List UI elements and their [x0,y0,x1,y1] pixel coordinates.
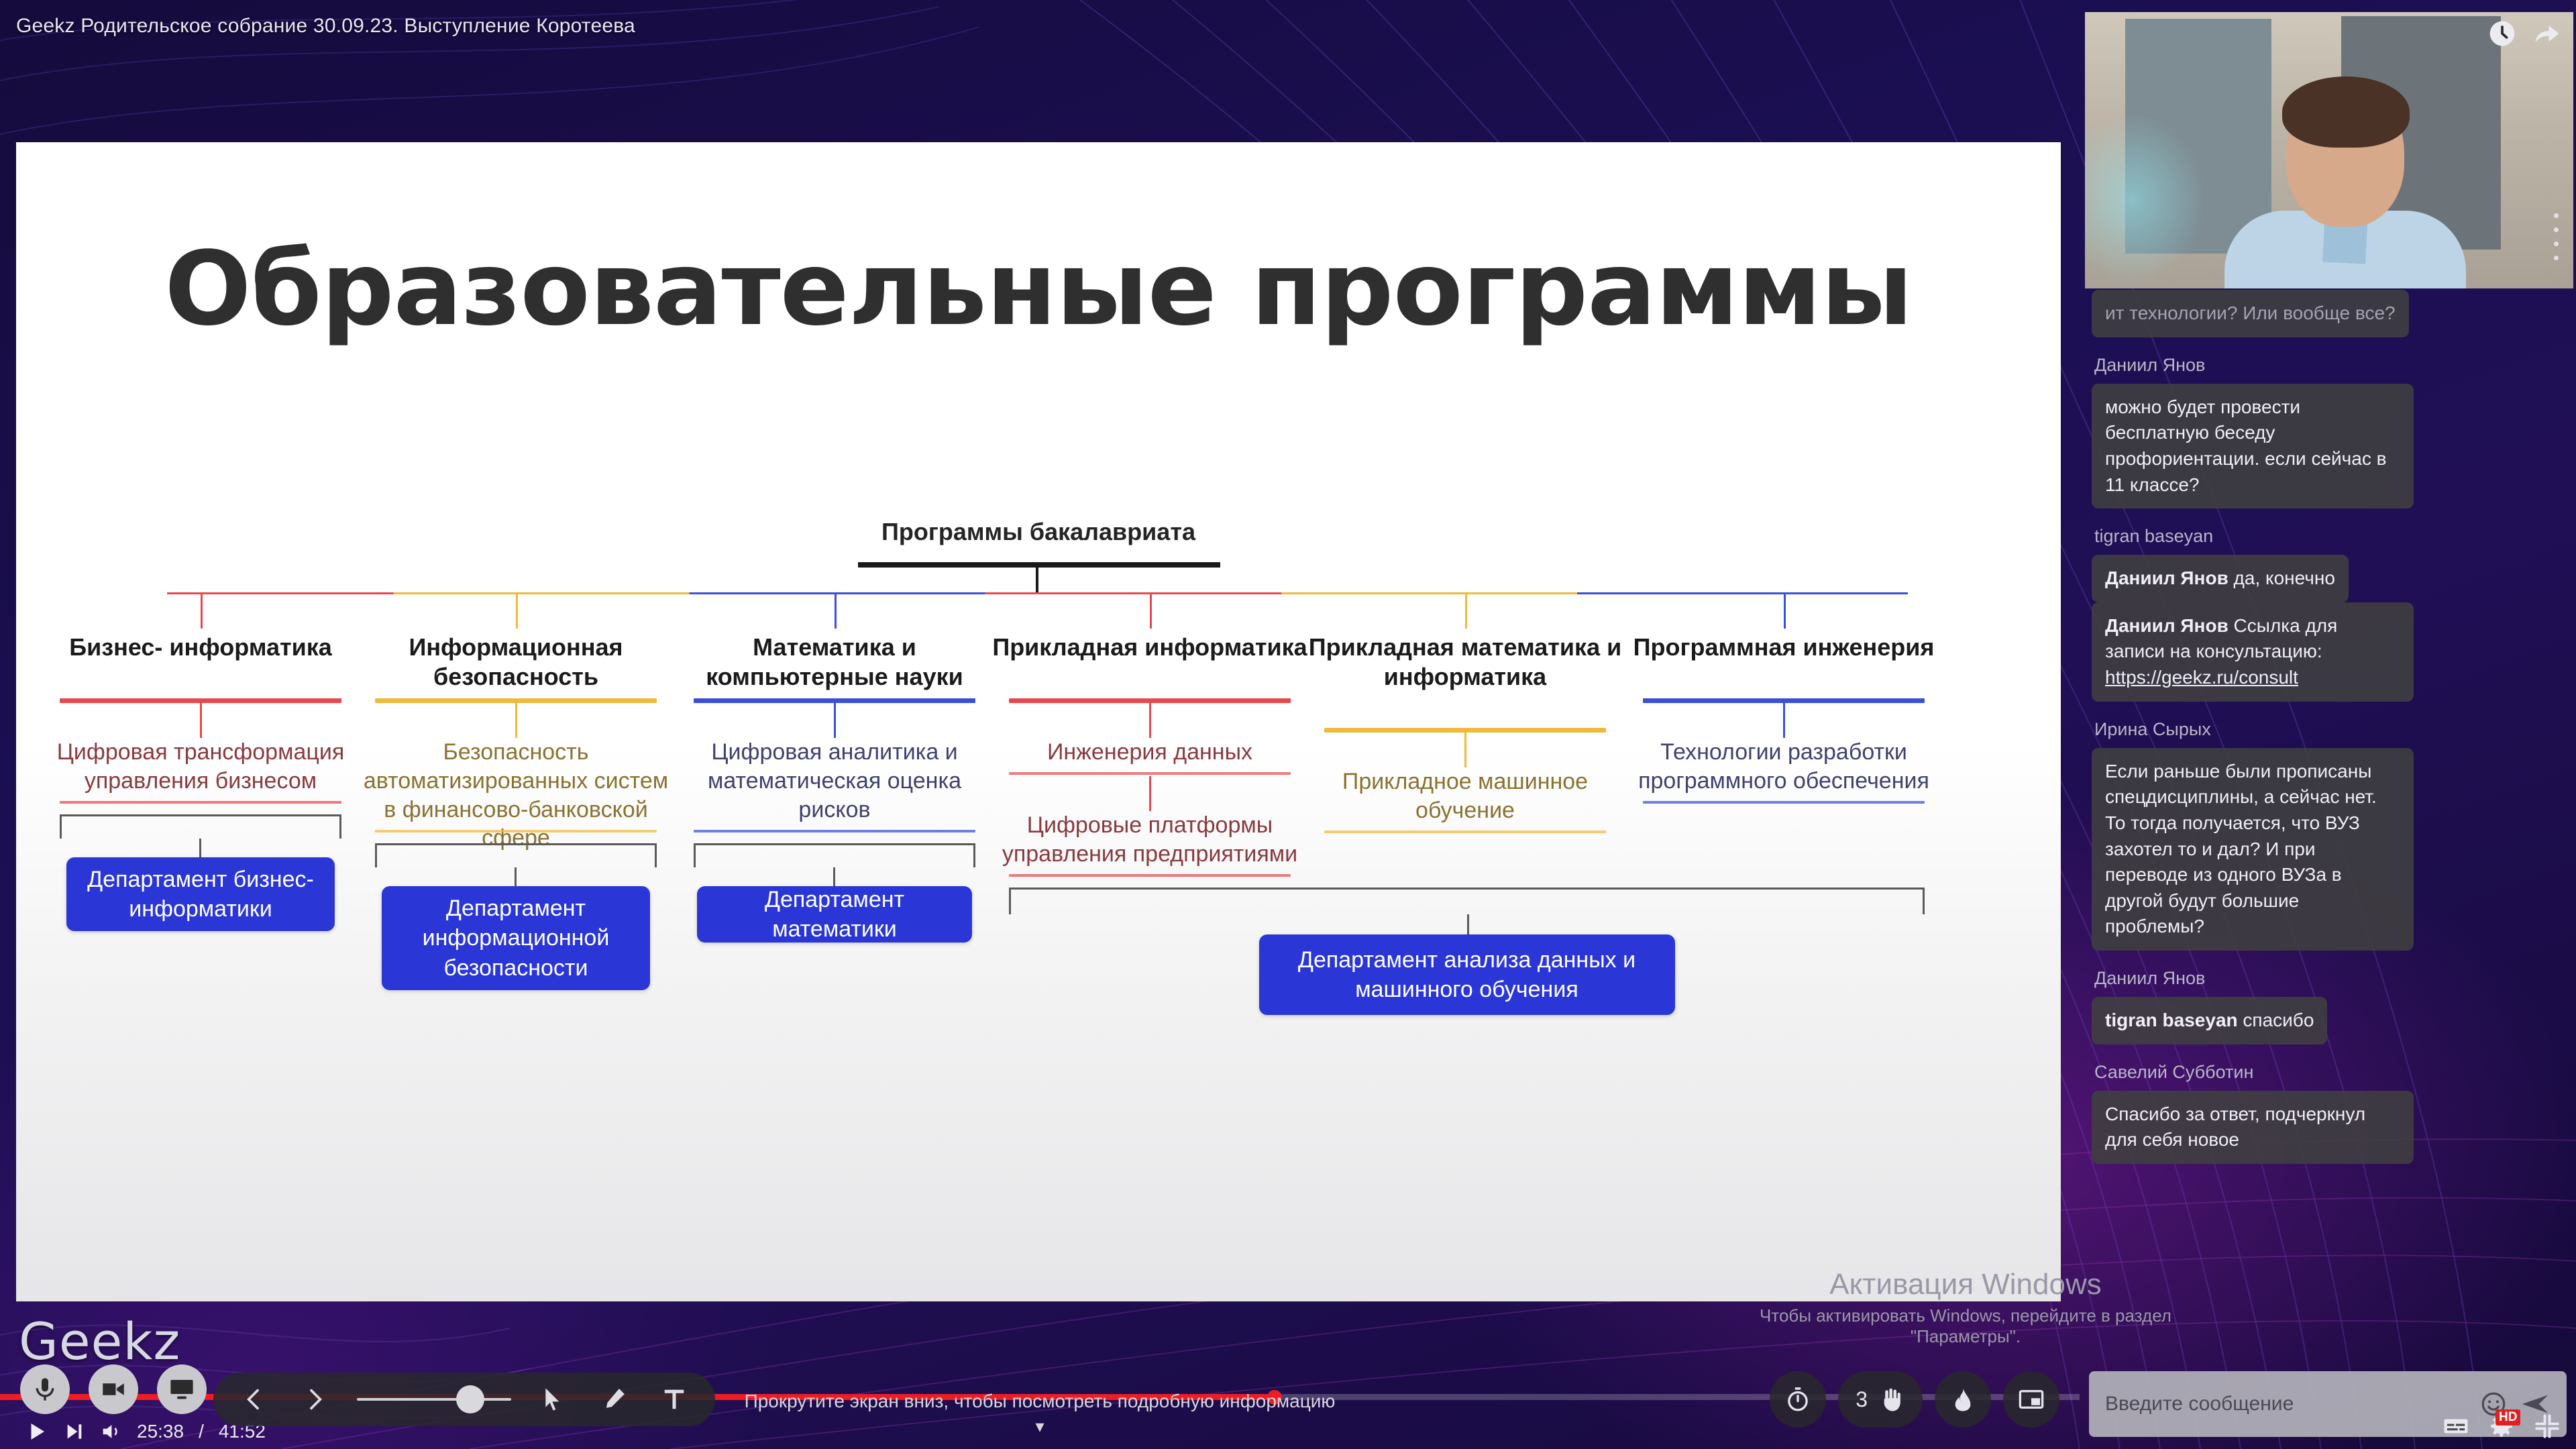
program-connector [201,592,203,629]
diagram-root-label: Программы бакалавриата [16,518,2061,546]
department-box: Департамент математики [697,886,972,943]
chat-bubble[interactable]: ит технологии? Или вообще все? [2092,290,2409,337]
program-title: Прикладная информатика [992,633,1307,662]
track-connector [200,703,202,738]
department-bracket [694,843,975,867]
track-connector [515,703,517,738]
share-icon[interactable] [2532,19,2561,52]
chat-mention: tigran baseyan [2105,1010,2238,1030]
track-rule [1324,830,1606,833]
video-tile-icons [2487,19,2561,52]
department-stem [515,867,517,886]
track-connector [1783,703,1785,738]
subtitles-icon[interactable] [2442,1412,2470,1444]
right-panel: ит технологии? Или вообще все?Даниил Яно… [2080,0,2576,1449]
chat-bubble[interactable]: tigran baseyan спасибо [2092,997,2327,1044]
chat-text: да, конечно [2229,568,2335,588]
track-label: Технологии разработки программного обесп… [1626,738,1941,796]
scroll-hint-text: Прокрутите экран вниз, чтобы посмотреть … [0,1391,2080,1412]
department-bracket [60,814,341,839]
program-connector [1150,592,1152,629]
timer-button[interactable] [1770,1371,1826,1428]
track-rule [1009,772,1291,775]
track-connector [1149,776,1151,811]
speaker-video-tile[interactable] [2085,12,2573,288]
chat-bubble[interactable]: Даниил Янов Ссылка для записи на консуль… [2092,602,2414,702]
window-titlebar: Geekz Родительское собрание 30.09.23. Вы… [0,0,2093,52]
track-rule [1009,874,1291,877]
track-connector [1149,703,1151,738]
hand-count: 3 [1856,1387,1868,1412]
reaction-flame-button[interactable] [1935,1371,1991,1428]
chat-text: можно будет провести бесплатную беседу п… [2105,396,2386,495]
department-stem [199,839,201,857]
track-connector [834,703,836,738]
shared-department-bracket [1009,888,1925,914]
program-title: Программная инженерия [1626,633,1941,662]
chat-author: Ирина Сырых [2094,719,2564,740]
program-rule [1324,728,1606,733]
program-title: Математика и компьютерные науки [677,633,992,692]
department-box: Департамент бизнес-информатики [66,857,335,931]
chat-text: спасибо [2238,1010,2314,1030]
program-connector [1784,592,1786,629]
diagram-rail [167,592,1908,594]
chat-author: Савелий Субботин [2094,1062,2564,1083]
program-rule [375,698,657,703]
slide-title: Образовательные программы [16,229,2061,348]
chat-bubble[interactable]: Спасибо за ответ, подчеркнул для себя но… [2092,1091,2414,1164]
quality-settings-icon[interactable]: HD [2487,1412,2516,1444]
track-label: Цифровая трансформация управления бизнес… [43,738,358,796]
hd-badge: HD [2495,1409,2520,1426]
department-stem [833,867,835,886]
track-label: Прикладное машинное обучение [1307,767,1623,825]
chevron-down-icon[interactable]: ▾ [0,1416,2080,1437]
track-rule [375,830,657,833]
shared-department-box: Департамент анализа данных и машинного о… [1259,934,1675,1015]
picture-in-picture-button[interactable] [2003,1371,2059,1428]
chat-message-list[interactable]: ит технологии? Или вообще все?Даниил Яно… [2080,290,2576,1362]
department-box: Департамент информационной безопасности [382,886,650,990]
track-connector [1464,733,1466,767]
raise-hand-button[interactable]: 3 [1838,1371,1923,1428]
video-more-options-icon[interactable] [2554,213,2559,260]
track-rule [60,801,341,804]
chat-bubble[interactable]: Даниил Янов да, конечно [2092,555,2349,602]
chat-bubble[interactable]: можно будет провести бесплатную беседу п… [2092,384,2414,509]
track-rule [694,830,975,833]
chat-text: Спасибо за ответ, подчеркнул для себя но… [2105,1104,2365,1150]
diagram-root-stem [1036,568,1038,593]
program-connector [1465,592,1467,629]
speaker-hair [2282,76,2410,148]
chat-mention: Даниил Янов [2105,568,2229,588]
program-rule [60,698,341,703]
programs-diagram: Программы бакалавриата Бизнес- информати… [16,518,2061,1296]
exit-fullscreen-icon[interactable] [2533,1412,2561,1444]
chat-author: Даниил Янов [2094,968,2564,989]
scroll-hint: Прокрутите экран вниз, чтобы посмотреть … [0,1391,2080,1437]
clock-icon[interactable] [2487,19,2517,52]
presentation-slide: Образовательные программы Программы бака… [16,142,2061,1301]
department-bracket [375,843,657,867]
program-title: Информационная безопасность [358,633,674,692]
program-rule [1643,698,1925,703]
shared-department-stem [1467,914,1469,934]
chat-input[interactable]: Введите сообщение [2105,1393,2467,1415]
video-window-glow [2085,113,2206,287]
chat-link[interactable]: https://geekz.ru/consult [2105,667,2298,688]
track-label: Безопасность автоматизированных систем в… [358,738,674,853]
track-label: Инженерия данных [992,738,1307,767]
chat-mention: Даниил Янов [2105,615,2229,636]
program-title: Прикладная математика и информатика [1307,633,1623,692]
chat-author: tigran baseyan [2094,526,2564,547]
chat-text: Если раньше были прописаны спецдисциплин… [2105,761,2377,937]
program-connector [835,592,837,629]
program-rule [1009,698,1291,703]
player-control-bar: 25:38 / 41:52 [0,1328,2080,1449]
chat-bottom-bar: HD [2442,1412,2561,1444]
track-rule [1643,801,1925,804]
chat-author: Даниил Янов [2094,355,2564,376]
chat-bubble[interactable]: Если раньше были прописаны спецдисциплин… [2092,748,2414,951]
track-label: Цифровые платформы управления предприяти… [992,811,1307,869]
program-rule [694,698,975,703]
program-connector [516,592,518,629]
right-controls: 3 [1770,1371,2059,1428]
track-label: Цифровая аналитика и математическая оцен… [677,738,992,824]
program-title: Бизнес- информатика [43,633,358,662]
chat-text: ит технологии? Или вообще все? [2105,303,2396,323]
window-title: Geekz Родительское собрание 30.09.23. Вы… [16,15,635,38]
diagram-root-bar [858,562,1220,568]
